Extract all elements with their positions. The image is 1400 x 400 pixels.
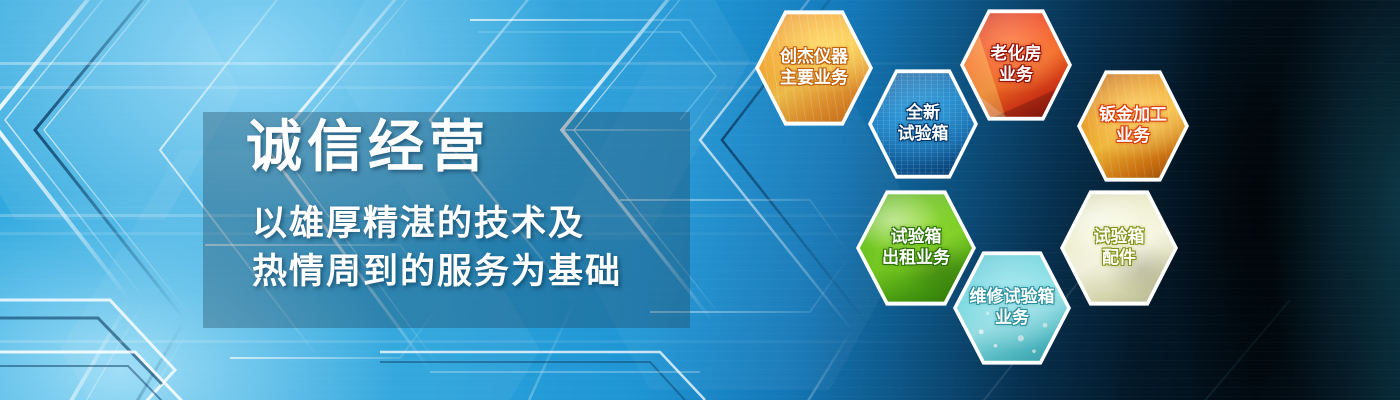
hex-sheet-metal-fill — [1081, 73, 1185, 179]
hex-aging-room-fill — [964, 12, 1068, 118]
promo-banner: 诚信经营 以雄厚精湛的技术及 热情周到的服务为基础 创杰仪器 主要业务 全新 试… — [0, 0, 1400, 400]
slogan-headline: 诚信经营 — [246, 120, 490, 176]
hex-new-chamber-fill — [872, 72, 974, 176]
slogan-subline-1: 以雄厚精湛的技术及 — [252, 207, 585, 242]
hex-chamber-accessories-fill — [1064, 193, 1174, 303]
hex-chamber-repair-fill — [957, 254, 1067, 362]
hex-chamber-rental-fill — [860, 193, 972, 303]
slogan-subline-2: 热情周到的服务为基础 — [252, 255, 622, 290]
hex-main-business-fill — [759, 13, 869, 123]
